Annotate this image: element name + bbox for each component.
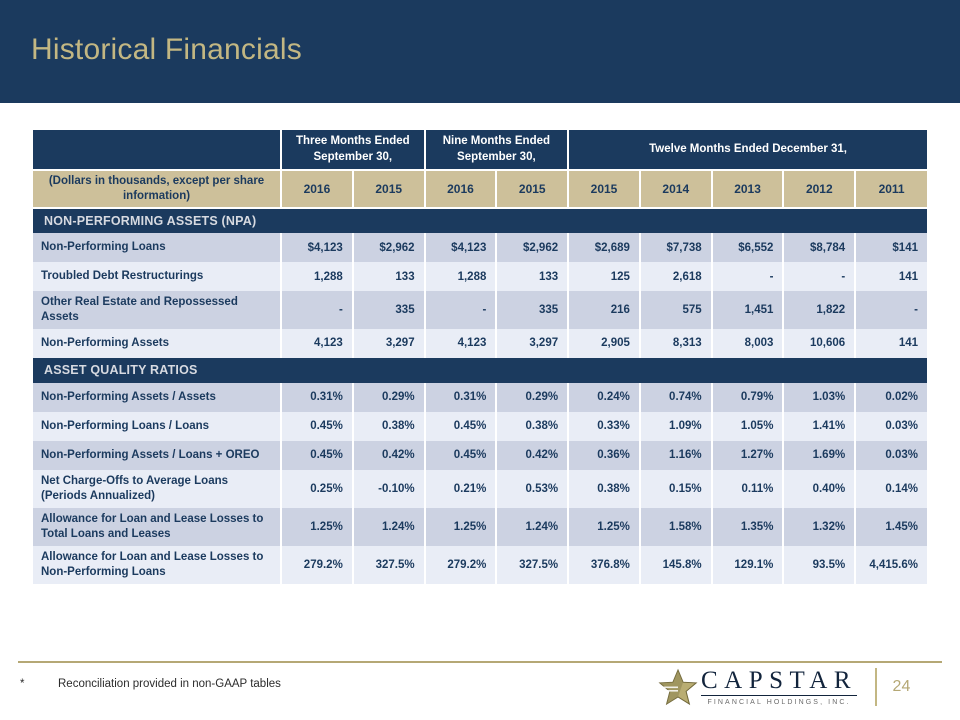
row-value: 0.03% xyxy=(855,441,927,470)
year-header-2016: 2016 xyxy=(425,170,497,208)
row-value: 133 xyxy=(496,262,568,291)
row-label: Non-Performing Assets / Loans + OREO xyxy=(33,441,281,470)
year-header-2011: 2011 xyxy=(855,170,927,208)
row-value: $4,123 xyxy=(425,233,497,262)
row-value: 1.09% xyxy=(640,412,712,441)
row-value: 0.74% xyxy=(640,383,712,412)
row-value: 376.8% xyxy=(568,546,640,584)
row-value: 1,288 xyxy=(281,262,353,291)
financial-table: Three Months Ended September 30,Nine Mon… xyxy=(33,130,927,584)
page-title: Historical Financials xyxy=(31,33,302,67)
page-number: 24 xyxy=(893,678,911,696)
row-value: 125 xyxy=(568,262,640,291)
row-label: Net Charge-Offs to Average Loans (Period… xyxy=(33,470,281,508)
row-value: 0.29% xyxy=(496,383,568,412)
row-value: 0.21% xyxy=(425,470,497,508)
row-value: 4,123 xyxy=(425,329,497,358)
row-value: 0.38% xyxy=(568,470,640,508)
row-value: 0.29% xyxy=(353,383,425,412)
row-value: 216 xyxy=(568,291,640,329)
row-value: 1.25% xyxy=(425,508,497,546)
row-value: $7,738 xyxy=(640,233,712,262)
row-value: 1.24% xyxy=(496,508,568,546)
group-header-cell: Nine Months Ended September 30, xyxy=(425,130,569,170)
table-row: Non-Performing Assets4,1233,2974,1233,29… xyxy=(33,329,927,358)
row-value: 327.5% xyxy=(496,546,568,584)
row-value: $8,784 xyxy=(783,233,855,262)
section-header-row: NON-PERFORMING ASSETS (NPA) xyxy=(33,208,927,233)
row-value: 575 xyxy=(640,291,712,329)
row-value: 279.2% xyxy=(281,546,353,584)
row-label: Allowance for Loan and Lease Losses to N… xyxy=(33,546,281,584)
row-value: 0.31% xyxy=(281,383,353,412)
row-value: 1.16% xyxy=(640,441,712,470)
row-value: 0.45% xyxy=(281,441,353,470)
table-row: Allowance for Loan and Lease Losses to T… xyxy=(33,508,927,546)
group-header-cell: Twelve Months Ended December 31, xyxy=(568,130,927,170)
section-title: NON-PERFORMING ASSETS (NPA) xyxy=(33,208,927,233)
row-label: Allowance for Loan and Lease Losses to T… xyxy=(33,508,281,546)
row-value: - xyxy=(855,291,927,329)
row-value: 0.11% xyxy=(712,470,784,508)
row-value: $2,962 xyxy=(496,233,568,262)
row-value: 1.24% xyxy=(353,508,425,546)
row-value: 0.31% xyxy=(425,383,497,412)
row-value: 0.38% xyxy=(496,412,568,441)
company-logo: CAPSTAR FINANCIAL HOLDINGS, INC. 24 xyxy=(658,668,910,706)
row-value: 0.53% xyxy=(496,470,568,508)
table-group-header-row: Three Months Ended September 30,Nine Mon… xyxy=(33,130,927,170)
row-label: Non-Performing Assets / Assets xyxy=(33,383,281,412)
row-value: 1,288 xyxy=(425,262,497,291)
year-header-2015: 2015 xyxy=(353,170,425,208)
group-header-cell: Three Months Ended September 30, xyxy=(281,130,425,170)
footer-divider xyxy=(18,661,942,663)
row-value: 0.42% xyxy=(353,441,425,470)
row-label: Non-Performing Loans / Loans xyxy=(33,412,281,441)
year-header-2016: 2016 xyxy=(281,170,353,208)
row-value: 4,123 xyxy=(281,329,353,358)
table-row: Troubled Debt Restructurings1,2881331,28… xyxy=(33,262,927,291)
row-value: 8,003 xyxy=(712,329,784,358)
row-value: 335 xyxy=(353,291,425,329)
footnote-marker: * xyxy=(20,678,58,690)
row-value: 327.5% xyxy=(353,546,425,584)
row-value: 0.03% xyxy=(855,412,927,441)
year-header-2014: 2014 xyxy=(640,170,712,208)
row-value: 335 xyxy=(496,291,568,329)
table-row: Other Real Estate and Repossessed Assets… xyxy=(33,291,927,329)
row-value: -0.10% xyxy=(353,470,425,508)
row-value: 0.45% xyxy=(281,412,353,441)
row-value: - xyxy=(425,291,497,329)
row-value: 1.41% xyxy=(783,412,855,441)
row-value: 1.03% xyxy=(783,383,855,412)
row-value: - xyxy=(281,291,353,329)
footnote: *Reconciliation provided in non-GAAP tab… xyxy=(20,678,281,690)
row-value: 0.33% xyxy=(568,412,640,441)
row-value: 3,297 xyxy=(496,329,568,358)
row-value: 0.42% xyxy=(496,441,568,470)
star-icon xyxy=(658,668,698,706)
table-row: Allowance for Loan and Lease Losses to N… xyxy=(33,546,927,584)
row-value: - xyxy=(783,262,855,291)
row-value: 0.40% xyxy=(783,470,855,508)
row-value: 0.15% xyxy=(640,470,712,508)
row-value: 2,618 xyxy=(640,262,712,291)
section-header-row: ASSET QUALITY RATIOS xyxy=(33,358,927,383)
slide: Historical Financials Three Months Ended… xyxy=(0,0,960,720)
row-value: 0.14% xyxy=(855,470,927,508)
row-value: 0.45% xyxy=(425,441,497,470)
group-header-spacer xyxy=(33,130,281,170)
row-value: 1,451 xyxy=(712,291,784,329)
table-row: Non-Performing Assets / Assets0.31%0.29%… xyxy=(33,383,927,412)
row-value: 129.1% xyxy=(712,546,784,584)
row-label: Non-Performing Assets xyxy=(33,329,281,358)
row-value: 279.2% xyxy=(425,546,497,584)
year-header-2013: 2013 xyxy=(712,170,784,208)
row-value: 1.27% xyxy=(712,441,784,470)
year-header-2015: 2015 xyxy=(496,170,568,208)
row-label: Non-Performing Loans xyxy=(33,233,281,262)
year-header-2015: 2015 xyxy=(568,170,640,208)
row-value: 133 xyxy=(353,262,425,291)
row-value: 93.5% xyxy=(783,546,855,584)
row-value: $141 xyxy=(855,233,927,262)
footnote-text: Reconciliation provided in non-GAAP tabl… xyxy=(58,678,281,690)
row-value: 2,905 xyxy=(568,329,640,358)
row-value: - xyxy=(712,262,784,291)
table-year-header-row: (Dollars in thousands, except per share … xyxy=(33,170,927,208)
row-value: 0.02% xyxy=(855,383,927,412)
row-value: 1.32% xyxy=(783,508,855,546)
table-row: Non-Performing Assets / Loans + OREO0.45… xyxy=(33,441,927,470)
row-value: 8,313 xyxy=(640,329,712,358)
logo-divider xyxy=(875,668,877,706)
table-row: Non-Performing Loans$4,123$2,962$4,123$2… xyxy=(33,233,927,262)
row-value: 1.05% xyxy=(712,412,784,441)
row-label: Troubled Debt Restructurings xyxy=(33,262,281,291)
row-value: $2,689 xyxy=(568,233,640,262)
section-title: ASSET QUALITY RATIOS xyxy=(33,358,927,383)
table-row: Non-Performing Loans / Loans0.45%0.38%0.… xyxy=(33,412,927,441)
logo-subtitle: FINANCIAL HOLDINGS, INC. xyxy=(701,699,857,706)
row-value: 3,297 xyxy=(353,329,425,358)
row-value: 0.36% xyxy=(568,441,640,470)
row-value: 1.69% xyxy=(783,441,855,470)
table-row: Net Charge-Offs to Average Loans (Period… xyxy=(33,470,927,508)
row-value: 141 xyxy=(855,329,927,358)
row-value: 4,415.6% xyxy=(855,546,927,584)
row-value: 1,822 xyxy=(783,291,855,329)
financial-table-wrapper: Three Months Ended September 30,Nine Mon… xyxy=(33,130,927,584)
row-value: $2,962 xyxy=(353,233,425,262)
row-value: 1.35% xyxy=(712,508,784,546)
row-value: 1.25% xyxy=(568,508,640,546)
row-value: 0.38% xyxy=(353,412,425,441)
row-value: 0.45% xyxy=(425,412,497,441)
row-value: 1.58% xyxy=(640,508,712,546)
row-value: 1.25% xyxy=(281,508,353,546)
row-value: $6,552 xyxy=(712,233,784,262)
row-value: $4,123 xyxy=(281,233,353,262)
row-value: 145.8% xyxy=(640,546,712,584)
logo-wordmark: CAPSTAR FINANCIAL HOLDINGS, INC. xyxy=(701,668,857,706)
logo-name: CAPSTAR xyxy=(701,668,857,696)
row-label: Other Real Estate and Repossessed Assets xyxy=(33,291,281,329)
row-value: 0.79% xyxy=(712,383,784,412)
row-value: 1.45% xyxy=(855,508,927,546)
row-value: 10,606 xyxy=(783,329,855,358)
row-value: 0.25% xyxy=(281,470,353,508)
row-value: 141 xyxy=(855,262,927,291)
units-label: (Dollars in thousands, except per share … xyxy=(33,170,281,208)
row-value: 0.24% xyxy=(568,383,640,412)
year-header-2012: 2012 xyxy=(783,170,855,208)
